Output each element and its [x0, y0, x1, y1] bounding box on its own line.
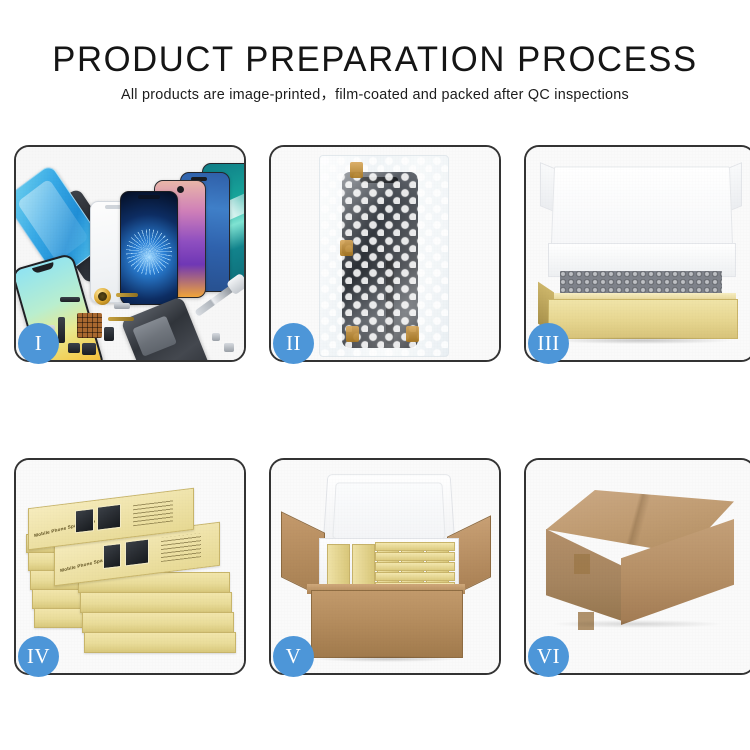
box-stack-icon: Mobile Phone Spare Parts Mobile Phone Sp… — [24, 476, 240, 662]
part-antenna-icon — [58, 317, 65, 343]
plastic-sheen-icon — [320, 156, 448, 356]
step-badge-4: IV — [18, 636, 59, 677]
part-speaker-icon — [60, 297, 80, 302]
stacked-box-edge — [84, 632, 236, 653]
product-preparation-infographic: PRODUCT PREPARATION PROCESS All products… — [0, 0, 750, 750]
process-step-6: VI — [524, 458, 750, 675]
part-camera-icon — [68, 343, 80, 353]
stacked-box-edge — [82, 612, 234, 633]
yellow-box-item — [375, 562, 455, 571]
drop-shadow — [315, 656, 457, 662]
process-step-grid: I II — [14, 145, 736, 677]
tape-tab-mid-icon — [340, 240, 353, 256]
box-window-2 — [97, 504, 121, 531]
process-step-1: I — [14, 145, 246, 362]
copper-grid-pad-icon — [77, 313, 102, 338]
bubble-wrap-bag-icon — [319, 155, 449, 357]
part-connector-icon — [104, 327, 114, 341]
box-spec-lines — [133, 498, 173, 526]
process-step-2: II — [269, 145, 501, 362]
yellow-box-item — [375, 542, 455, 551]
part-flex-cable-2-icon — [108, 317, 134, 321]
box-window-1 — [75, 508, 94, 533]
box-window-2 — [125, 539, 149, 567]
yellow-box-front-icon — [548, 299, 738, 339]
part-screw-icon — [224, 343, 234, 352]
carton-left-face-icon — [546, 529, 622, 621]
process-step-3: III — [524, 145, 750, 362]
step-badge-6: VI — [528, 636, 569, 677]
part-bracket-icon — [114, 303, 130, 309]
page-title: PRODUCT PREPARATION PROCESS — [4, 40, 747, 80]
box-window-1 — [103, 543, 121, 569]
yellow-box-item — [375, 552, 455, 561]
phone-display-burst-icon — [120, 191, 178, 305]
drop-shadow — [552, 337, 732, 344]
stacked-box-edge — [80, 592, 232, 613]
header: PRODUCT PREPARATION PROCESS All products… — [0, 40, 750, 105]
carton-tape-top-icon — [574, 554, 590, 574]
yellow-box-item — [375, 572, 455, 581]
camera-ring-icon — [94, 288, 111, 305]
carton-front-icon — [311, 590, 463, 658]
process-step-4: Mobile Phone Spare Parts Mobile Phone Sp… — [14, 458, 246, 675]
part-vibrator-icon — [82, 343, 96, 355]
process-step-5: V — [269, 458, 501, 675]
tape-tab-bl-icon — [346, 326, 359, 342]
part-screw-2-icon — [212, 333, 220, 341]
step-badge-2: II — [273, 323, 314, 364]
tape-tab-br-icon — [406, 326, 419, 342]
step-badge-5: V — [273, 636, 314, 677]
yellow-boxes-stack-icon — [375, 540, 453, 590]
drop-shadow — [552, 620, 722, 628]
yellow-box-item — [352, 544, 375, 588]
box-spec-lines — [161, 533, 201, 562]
step-badge-1: I — [18, 323, 59, 364]
step-badge-3: III — [528, 323, 569, 364]
yellow-box-item — [327, 544, 350, 588]
page-subtitle: All products are image-printed，film-coat… — [0, 86, 750, 105]
part-flex-cable-icon — [116, 293, 138, 297]
tape-tab-top-icon — [350, 162, 363, 178]
